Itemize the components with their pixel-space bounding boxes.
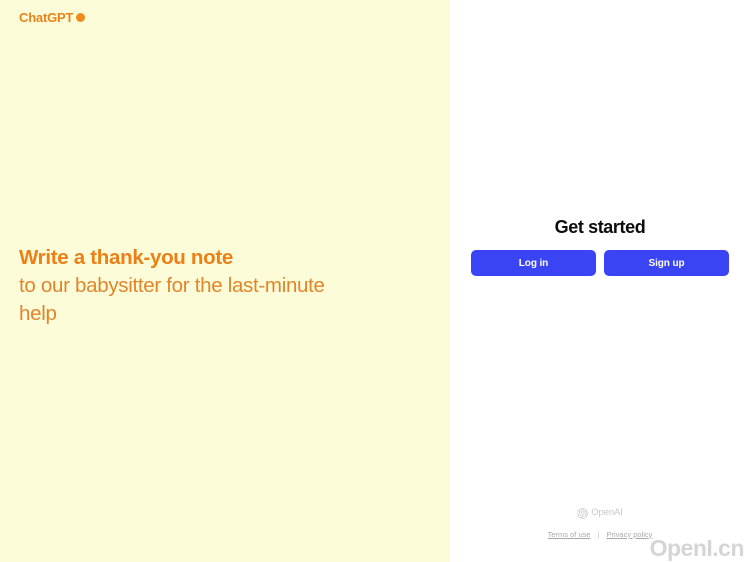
orange-dot-icon [76, 13, 85, 22]
legal-links: Terms of use | Privacy policy [548, 531, 653, 539]
login-button[interactable]: Log in [471, 250, 596, 276]
signup-button[interactable]: Sign up [604, 250, 729, 276]
promo-line-1: Write a thank-you note [19, 244, 419, 272]
left-promo-panel: ChatGPT Write a thank-you note to our ba… [0, 0, 450, 562]
legal-separator: | [598, 531, 600, 539]
openai-logo-icon [577, 508, 588, 519]
terms-of-use-link[interactable]: Terms of use [548, 531, 591, 539]
auth-button-group: Log in Sign up [471, 250, 729, 276]
right-auth-panel: Get started Log in Sign up OpenAI Terms … [450, 0, 750, 562]
brand-name-label: ChatGPT [19, 11, 73, 24]
openai-brand-mark: OpenAI [577, 508, 623, 519]
chatgpt-brand-logo: ChatGPT [19, 11, 85, 24]
promo-text-block: Write a thank-you note to our babysitter… [19, 244, 419, 328]
promo-line-3: help [19, 300, 419, 328]
footer: OpenAI Terms of use | Privacy policy [450, 508, 750, 539]
openai-logo-text: OpenAI [591, 508, 623, 518]
chatgpt-welcome-page: ChatGPT Write a thank-you note to our ba… [0, 0, 750, 562]
auth-block: Get started Log in Sign up [450, 216, 750, 276]
page-title: Get started [555, 216, 646, 238]
promo-line-2: to our babysitter for the last-minute [19, 272, 419, 300]
privacy-policy-link[interactable]: Privacy policy [607, 531, 653, 539]
